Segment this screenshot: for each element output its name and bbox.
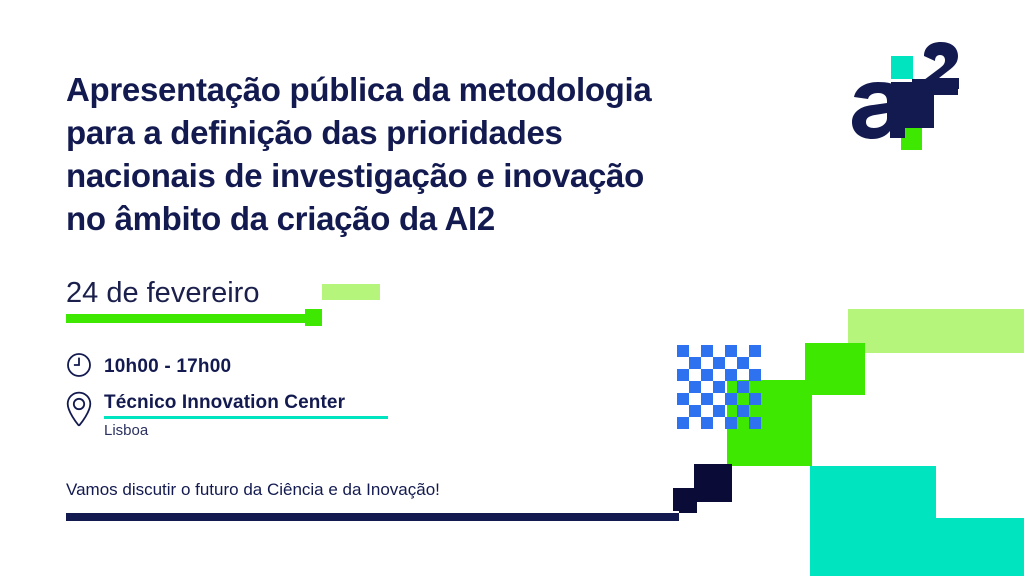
logo-square-b: [912, 101, 934, 128]
venue-text-wrap: Técnico Innovation Center Lisboa: [104, 391, 388, 442]
event-time: 10h00 - 17h00: [104, 352, 231, 380]
decor-checkerboard: [677, 345, 761, 429]
checker-cell: [749, 417, 761, 429]
checker-cell: [677, 393, 689, 405]
date-block: 24 de fevereiro: [66, 276, 406, 310]
decor-teal-upper-block: [810, 466, 936, 519]
map-pin-icon: [66, 391, 104, 429]
checker-cell: [689, 357, 701, 369]
headline-block: Apresentação pública da metodologia para…: [66, 68, 766, 240]
checker-cell: [749, 381, 761, 393]
checker-cell: [749, 369, 761, 381]
checker-cell: [725, 381, 737, 393]
venue-underline: [104, 416, 388, 419]
checker-cell: [689, 393, 701, 405]
tagline-block: Vamos discutir o futuro da Ciência e da …: [66, 478, 706, 502]
checker-cell: [701, 417, 713, 429]
checker-cell: [713, 381, 725, 393]
checker-cell: [701, 381, 713, 393]
checker-cell: [713, 369, 725, 381]
tagline-underline: [66, 513, 679, 521]
checker-cell: [749, 357, 761, 369]
tagline-accent-square: [679, 495, 697, 513]
checker-cell: [677, 345, 689, 357]
checker-cell: [701, 369, 713, 381]
checker-cell: [725, 357, 737, 369]
checker-cell: [713, 357, 725, 369]
checker-cell: [701, 357, 713, 369]
checker-cell: [701, 345, 713, 357]
checker-cell: [689, 405, 701, 417]
checker-cell: [725, 369, 737, 381]
decor-teal-lower-block: [810, 518, 1024, 576]
checker-cell: [677, 381, 689, 393]
page-title: Apresentação pública da metodologia para…: [66, 68, 766, 240]
checker-cell: [737, 345, 749, 357]
event-venue: Técnico Innovation Center: [104, 391, 345, 415]
event-time-row: 10h00 - 17h00: [66, 352, 486, 380]
date-accent-bar: [322, 284, 380, 300]
clock-icon: [66, 352, 104, 378]
checker-cell: [677, 417, 689, 429]
checker-cell: [677, 369, 689, 381]
checker-cell: [689, 381, 701, 393]
checker-cell: [737, 381, 749, 393]
decor-light-green-bar: [848, 309, 1024, 353]
checker-cell: [713, 417, 725, 429]
checker-cell: [725, 405, 737, 417]
checker-cell: [749, 393, 761, 405]
decor-green-small-square: [805, 343, 865, 395]
checker-cell: [737, 357, 749, 369]
checker-cell: [701, 405, 713, 417]
checker-cell: [713, 393, 725, 405]
event-details: 10h00 - 17h00 Técnico Innovation Center …: [66, 352, 486, 442]
checker-cell: [749, 405, 761, 417]
checker-cell: [701, 393, 713, 405]
checker-cell: [689, 369, 701, 381]
checker-cell: [737, 405, 749, 417]
checker-cell: [737, 417, 749, 429]
checker-cell: [737, 393, 749, 405]
banner-canvas: Apresentação pública da metodologia para…: [0, 0, 1024, 576]
checker-cell: [713, 345, 725, 357]
event-tagline: Vamos discutir o futuro da Ciência e da …: [66, 478, 706, 502]
checker-cell: [725, 417, 737, 429]
ai2-logo: [846, 42, 974, 160]
checker-cell: [677, 357, 689, 369]
checker-cell: [725, 393, 737, 405]
checker-cell: [713, 405, 725, 417]
checker-cell: [725, 345, 737, 357]
logo-teal-square: [891, 56, 913, 79]
logo-letter-i-stem: [891, 82, 912, 128]
logo-square-c: [934, 79, 958, 95]
date-accent-square: [305, 309, 322, 326]
checker-cell: [689, 417, 701, 429]
checker-cell: [689, 345, 701, 357]
checker-cell: [749, 345, 761, 357]
checker-cell: [677, 405, 689, 417]
date-underline: [66, 314, 305, 323]
event-city: Lisboa: [104, 420, 388, 442]
checker-cell: [737, 369, 749, 381]
event-venue-row: Técnico Innovation Center Lisboa: [66, 391, 486, 442]
